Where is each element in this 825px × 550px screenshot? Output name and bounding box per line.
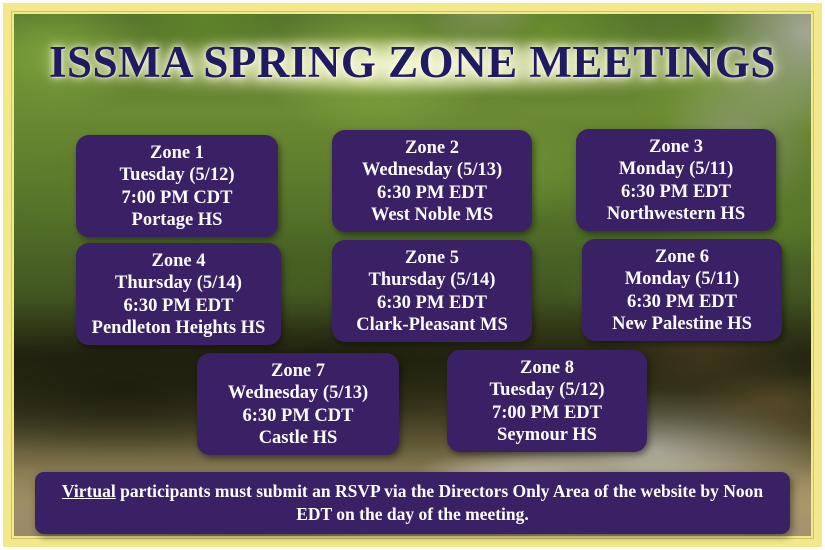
rsvp-emphasis-word: Virtual: [62, 481, 116, 501]
zone-card-7: Zone 7 Wednesday (5/13) 6:30 PM CDT Cast…: [197, 353, 399, 455]
zone-card-8-location: Seymour HS: [457, 424, 637, 446]
poster-title-area: ISSMA SPRING ZONE MEETINGS: [14, 34, 811, 90]
zone-card-3-location: Northwestern HS: [586, 203, 766, 225]
zone-card-4-date: Thursday (5/14): [86, 272, 271, 294]
zone-card-2-date: Wednesday (5/13): [342, 159, 522, 181]
zone-card-8-time: 7:00 PM EDT: [457, 402, 637, 424]
page-title: ISSMA SPRING ZONE MEETINGS: [49, 34, 776, 90]
zone-card-7-date: Wednesday (5/13): [207, 382, 389, 404]
zone-card-6-date: Monday (5/11): [592, 268, 772, 290]
poster-content: ISSMA SPRING ZONE MEETINGS Zone 1 Tuesda…: [14, 14, 811, 536]
zone-card-4-location: Pendleton Heights HS: [86, 317, 271, 339]
zone-card-1: Zone 1 Tuesday (5/12) 7:00 PM CDT Portag…: [76, 135, 278, 237]
zone-card-8: Zone 8 Tuesday (5/12) 7:00 PM EDT Seymou…: [447, 350, 647, 452]
zone-card-2-time: 6:30 PM EDT: [342, 182, 522, 204]
rsvp-notice-text: Virtual participants must submit an RSVP…: [35, 480, 790, 526]
zone-card-8-date: Tuesday (5/12): [457, 379, 637, 401]
zone-card-3-date: Monday (5/11): [586, 158, 766, 180]
zone-card-4-time: 6:30 PM EDT: [86, 295, 271, 317]
zone-card-5: Zone 5 Thursday (5/14) 6:30 PM EDT Clark…: [332, 240, 532, 342]
zone-card-7-zone: Zone 7: [207, 360, 389, 382]
zone-card-2-location: West Noble MS: [342, 204, 522, 226]
zone-card-5-zone: Zone 5: [342, 247, 522, 269]
zone-card-1-zone: Zone 1: [86, 142, 268, 164]
zone-card-5-date: Thursday (5/14): [342, 269, 522, 291]
zone-card-1-location: Portage HS: [86, 209, 268, 231]
zone-card-3-time: 6:30 PM EDT: [586, 181, 766, 203]
zone-card-2-zone: Zone 2: [342, 137, 522, 159]
zone-card-1-time: 7:00 PM CDT: [86, 187, 268, 209]
zone-card-3-zone: Zone 3: [586, 136, 766, 158]
zone-card-6-time: 6:30 PM EDT: [592, 291, 772, 313]
zone-card-2: Zone 2 Wednesday (5/13) 6:30 PM EDT West…: [332, 130, 532, 232]
zone-card-5-time: 6:30 PM EDT: [342, 292, 522, 314]
zone-card-6-zone: Zone 6: [592, 246, 772, 268]
poster: ISSMA SPRING ZONE MEETINGS Zone 1 Tuesda…: [0, 0, 825, 550]
zone-card-8-zone: Zone 8: [457, 357, 637, 379]
zone-card-7-time: 6:30 PM CDT: [207, 405, 389, 427]
rsvp-line-1-rest: participants must submit an RSVP via the…: [116, 481, 719, 501]
rsvp-notice-banner: Virtual participants must submit an RSVP…: [35, 472, 790, 534]
zone-card-4-zone: Zone 4: [86, 250, 271, 272]
zone-card-3: Zone 3 Monday (5/11) 6:30 PM EDT Northwe…: [576, 129, 776, 231]
zone-card-7-location: Castle HS: [207, 427, 389, 449]
zone-card-6-location: New Palestine HS: [592, 313, 772, 335]
zone-card-4: Zone 4 Thursday (5/14) 6:30 PM EDT Pendl…: [76, 243, 281, 345]
zone-card-5-location: Clark-Pleasant MS: [342, 314, 522, 336]
zone-card-1-date: Tuesday (5/12): [86, 164, 268, 186]
zone-card-6: Zone 6 Monday (5/11) 6:30 PM EDT New Pal…: [582, 239, 782, 341]
